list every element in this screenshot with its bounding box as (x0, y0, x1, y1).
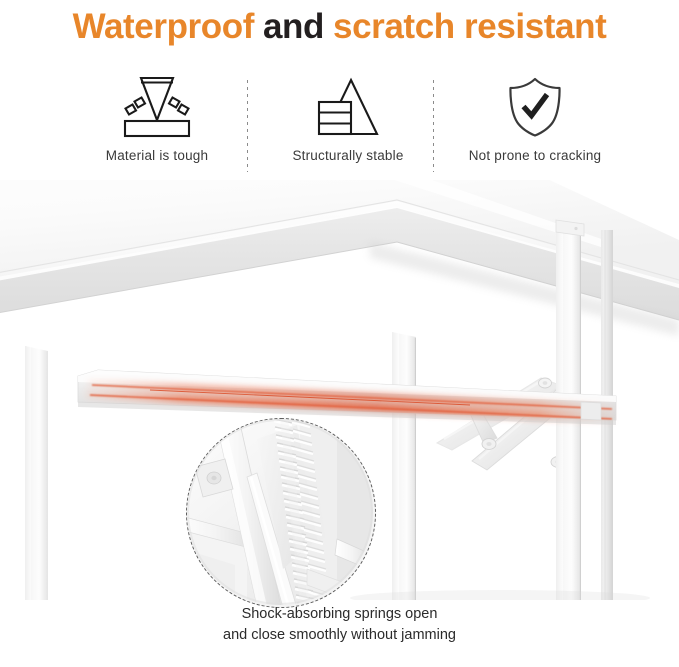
cross-brace-highlighted (78, 370, 616, 425)
feature-list: Material is tough Structurally stable (0, 76, 679, 176)
headline-part-waterproof: Waterproof (73, 7, 254, 47)
headline-part-and: and (263, 7, 324, 47)
feature-label: Structurally stable (292, 148, 403, 163)
feature-divider (247, 80, 248, 172)
product-feature-panel: Waterproof and scratch resistant (0, 0, 679, 667)
page-title: Waterproof and scratch resistant (0, 0, 679, 54)
feature-item-material-is-tough: Material is tough (62, 76, 252, 176)
spring-closeup (187, 419, 373, 605)
caption-line-1: Shock-absorbing springs open (0, 604, 679, 625)
inset-caption: Shock-absorbing springs open and close s… (0, 604, 679, 646)
leg-rear-left (25, 346, 48, 600)
headline-part-scratch-resistant: scratch resistant (333, 7, 606, 47)
caption-line-2: and close smoothly without jamming (0, 625, 679, 646)
spring-mechanism-magnifier (186, 418, 376, 608)
impact-wedge-icon (111, 76, 203, 138)
feature-divider (433, 80, 434, 172)
pyramid-stack-icon (307, 76, 389, 138)
feature-label: Material is tough (106, 148, 208, 163)
feature-item-structurally-stable: Structurally stable (253, 76, 443, 176)
brace-bracket (581, 402, 601, 420)
feature-item-not-prone-to-cracking: Not prone to cracking (440, 76, 630, 176)
feature-label: Not prone to cracking (469, 148, 602, 163)
shield-check-icon (502, 76, 568, 138)
leg-front-left (392, 332, 416, 600)
